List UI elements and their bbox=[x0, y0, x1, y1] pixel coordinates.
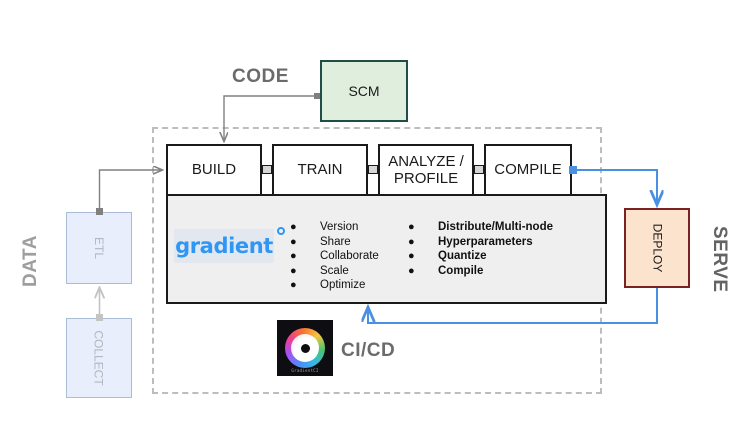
stage-train-label: TRAIN bbox=[298, 161, 343, 178]
stage-build-label: BUILD bbox=[192, 161, 236, 178]
cicd-label: CI/CD bbox=[341, 340, 395, 362]
feature-label: Hyperparameters bbox=[424, 235, 533, 250]
cicd-dot-icon bbox=[301, 344, 310, 353]
bullet-icon: ● bbox=[290, 249, 306, 264]
cicd-logo-icon: GradientCI bbox=[277, 320, 333, 376]
etl-node[interactable]: ETL bbox=[66, 212, 132, 284]
code-label: CODE bbox=[232, 66, 289, 88]
feature-label: Quantize bbox=[424, 249, 487, 264]
deploy-node[interactable]: DEPLOY bbox=[624, 208, 690, 288]
stage-build[interactable]: BUILD bbox=[166, 144, 262, 196]
wire-collect-to-etl bbox=[96, 288, 103, 321]
cicd-wordmark: GradientCI bbox=[277, 368, 333, 373]
list-item: ●Quantize bbox=[408, 249, 553, 264]
scm-node[interactable]: SCM bbox=[320, 60, 408, 122]
feature-label: Scale bbox=[306, 264, 349, 279]
list-item: ●Hyperparameters bbox=[408, 235, 553, 250]
collect-node[interactable]: COLLECT bbox=[66, 318, 132, 398]
list-item: ●Collaborate bbox=[290, 249, 379, 264]
platform-features-left: ●Version ●Share ●Collaborate ●Scale ●Opt… bbox=[290, 220, 379, 293]
stage-analyze-label: ANALYZE / PROFILE bbox=[388, 153, 464, 188]
stage-connector-tab bbox=[474, 165, 484, 174]
stage-analyze-profile[interactable]: ANALYZE / PROFILE bbox=[378, 144, 474, 196]
stage-compile[interactable]: COMPILE bbox=[484, 144, 572, 196]
feature-label: Share bbox=[306, 235, 351, 250]
bullet-icon: ● bbox=[290, 235, 306, 250]
list-item: ●Compile bbox=[408, 264, 553, 279]
serve-section-label: SERVE bbox=[708, 226, 730, 292]
feature-label: Compile bbox=[424, 264, 483, 279]
collect-label: COLLECT bbox=[92, 330, 106, 385]
scm-label: SCM bbox=[348, 83, 379, 99]
bullet-icon: ● bbox=[290, 264, 306, 279]
feature-label: Distribute/Multi-node bbox=[424, 220, 553, 235]
stage-connector-tab bbox=[262, 165, 272, 174]
cicd-inner-icon bbox=[291, 334, 319, 362]
cicd-ring-icon bbox=[285, 328, 325, 368]
stage-compile-label: COMPILE bbox=[494, 161, 562, 178]
bullet-icon: ● bbox=[290, 278, 306, 293]
deploy-label: DEPLOY bbox=[650, 224, 664, 273]
bullet-icon: ● bbox=[408, 220, 424, 235]
stage-connector-tab bbox=[368, 165, 378, 174]
feature-label: Collaborate bbox=[306, 249, 379, 264]
data-section-label: DATA bbox=[20, 228, 42, 294]
etl-label: ETL bbox=[92, 237, 106, 259]
gradient-logo: gradient bbox=[174, 229, 274, 263]
feature-label: Version bbox=[306, 220, 358, 235]
diagram-canvas: BUILD TRAIN ANALYZE / PROFILE COMPILE SC… bbox=[0, 0, 750, 421]
stage-analyze-line2: PROFILE bbox=[394, 170, 458, 187]
list-item: ●Optimize bbox=[290, 278, 379, 293]
gradient-logo-wordmark: gradient bbox=[175, 234, 273, 258]
list-item: ●Share bbox=[290, 235, 379, 250]
bullet-icon: ● bbox=[408, 235, 424, 250]
bullet-icon: ● bbox=[290, 220, 306, 235]
bullet-icon: ● bbox=[408, 264, 424, 279]
list-item: ●Version bbox=[290, 220, 379, 235]
gradient-logo-dot-icon bbox=[277, 227, 285, 235]
list-item: ●Distribute/Multi-node bbox=[408, 220, 553, 235]
platform-features-right: ●Distribute/Multi-node ●Hyperparameters … bbox=[408, 220, 553, 278]
feature-label: Optimize bbox=[306, 278, 365, 293]
stage-train[interactable]: TRAIN bbox=[272, 144, 368, 196]
bullet-icon: ● bbox=[408, 249, 424, 264]
stage-analyze-line1: ANALYZE / bbox=[388, 153, 464, 170]
list-item: ●Scale bbox=[290, 264, 379, 279]
